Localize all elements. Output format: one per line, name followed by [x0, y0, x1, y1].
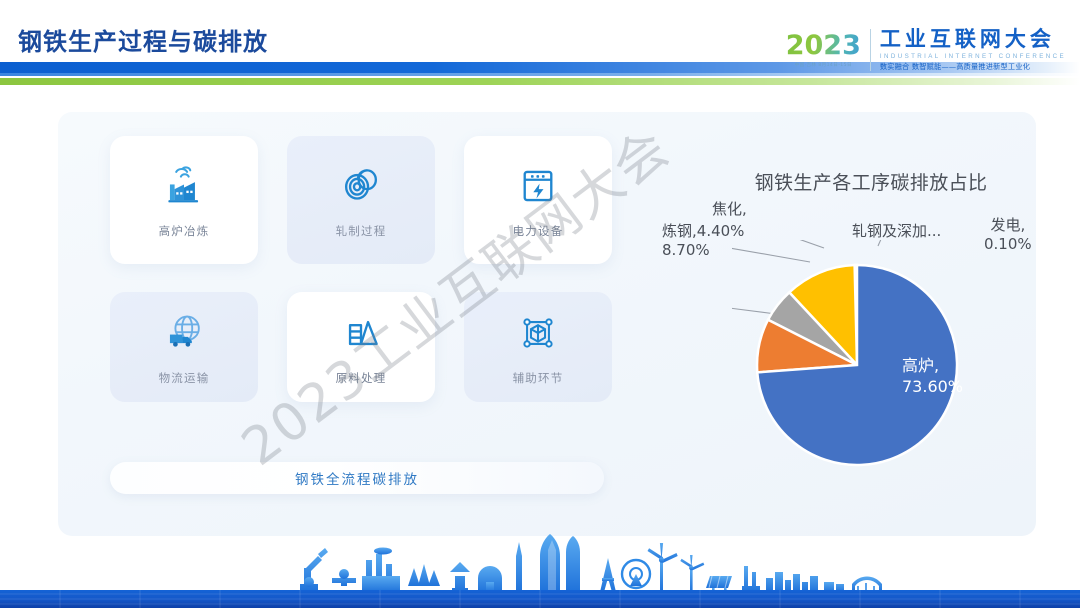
- logo-main-title: 工业互联网大会: [880, 28, 1066, 50]
- pie-label-fadian-value: 0.10%: [984, 235, 1032, 253]
- chart-title: 钢铁生产各工序碳排放占比: [716, 168, 1026, 195]
- content-panel: 高炉冶炼 轧制过程 电力设备: [58, 112, 1036, 536]
- header-rule-green: [0, 78, 1080, 85]
- pie-label-fadian-name: 发电,: [990, 216, 1025, 234]
- material-pile-icon: [336, 308, 386, 358]
- node-box-icon: [513, 308, 563, 358]
- logo-divider: [870, 29, 871, 71]
- factory-icon: [159, 161, 209, 211]
- pie-label-jiaohua-name: 焦化,: [712, 200, 747, 218]
- logo-year: 2023: [786, 32, 861, 59]
- pie-label-gaolu: 高炉, 73.60%: [902, 356, 963, 398]
- pie-label-fadian: 发电, 0.10%: [984, 216, 1032, 254]
- logo-year-subtitle: 中国·吉林 8月14日-15日: [795, 62, 852, 68]
- coil-icon: [336, 161, 386, 211]
- pie-label-gaolu-name: 高炉,: [902, 356, 939, 375]
- logo-year-block: 2023 中国·吉林 8月14日-15日: [786, 32, 870, 68]
- pie-label-jiaohua: 焦化,: [712, 200, 747, 219]
- process-card-label: 物流运输: [159, 370, 210, 386]
- process-card-label: 电力设备: [513, 223, 564, 239]
- logo-english-title: INDUSTRIAL INTERNET CONFERENCE: [880, 53, 1066, 60]
- flow-summary-label: 钢铁全流程碳排放: [295, 468, 419, 488]
- process-card-label: 高炉冶炼: [159, 223, 210, 239]
- truck-globe-icon: [159, 308, 209, 358]
- pie-label-liangang-value: 8.70%: [662, 241, 710, 259]
- process-card-label: 辅助环节: [513, 370, 564, 386]
- process-card-grid: 高炉冶炼 轧制过程 电力设备: [110, 136, 612, 402]
- process-card-blast-furnace[interactable]: 高炉冶炼: [110, 136, 258, 264]
- skyline-buildings: [300, 534, 882, 593]
- power-box-icon: [513, 161, 563, 211]
- pie-label-zhagang-name: 轧钢及深加...: [852, 222, 941, 240]
- pie-label-jiaohua-value: 4.40%: [697, 222, 745, 240]
- process-card-logistics[interactable]: 物流运输: [110, 292, 258, 402]
- pie-label-liangang-name: 炼钢,: [662, 222, 697, 240]
- logo-text-block: 工业互联网大会 INDUSTRIAL INTERNET CONFERENCE 数…: [880, 28, 1066, 71]
- pie-label-zhagang: 轧钢及深加...: [852, 222, 941, 241]
- process-card-rolling[interactable]: 轧制过程: [287, 136, 435, 264]
- flow-summary-bar: 钢铁全流程碳排放: [110, 462, 604, 494]
- pie-label-gaolu-value: 73.60%: [902, 377, 963, 396]
- process-card-power-equipment[interactable]: 电力设备: [464, 136, 612, 264]
- conference-logo: 2023 中国·吉林 8月14日-15日 工业互联网大会 INDUSTRIAL …: [786, 24, 1066, 76]
- process-card-material-handling[interactable]: 原料处理: [287, 292, 435, 402]
- pie-label-liangang: 炼钢,4.40% 8.70%: [662, 222, 744, 260]
- skyline-footer: [0, 516, 1080, 608]
- page-header: 钢铁生产过程与碳排放 2023 中国·吉林 8月14日-15日 工业互联网大会 …: [0, 0, 1080, 92]
- process-card-auxiliary[interactable]: 辅助环节: [464, 292, 612, 402]
- logo-slogan: 数实融合 数智赋能——高质量推进新型工业化: [880, 62, 1066, 72]
- process-card-label: 原料处理: [336, 370, 387, 386]
- pie-chart: 钢铁生产各工序碳排放占比: [656, 154, 1026, 514]
- page-title: 钢铁生产过程与碳排放: [18, 22, 268, 57]
- process-card-label: 轧制过程: [336, 223, 387, 239]
